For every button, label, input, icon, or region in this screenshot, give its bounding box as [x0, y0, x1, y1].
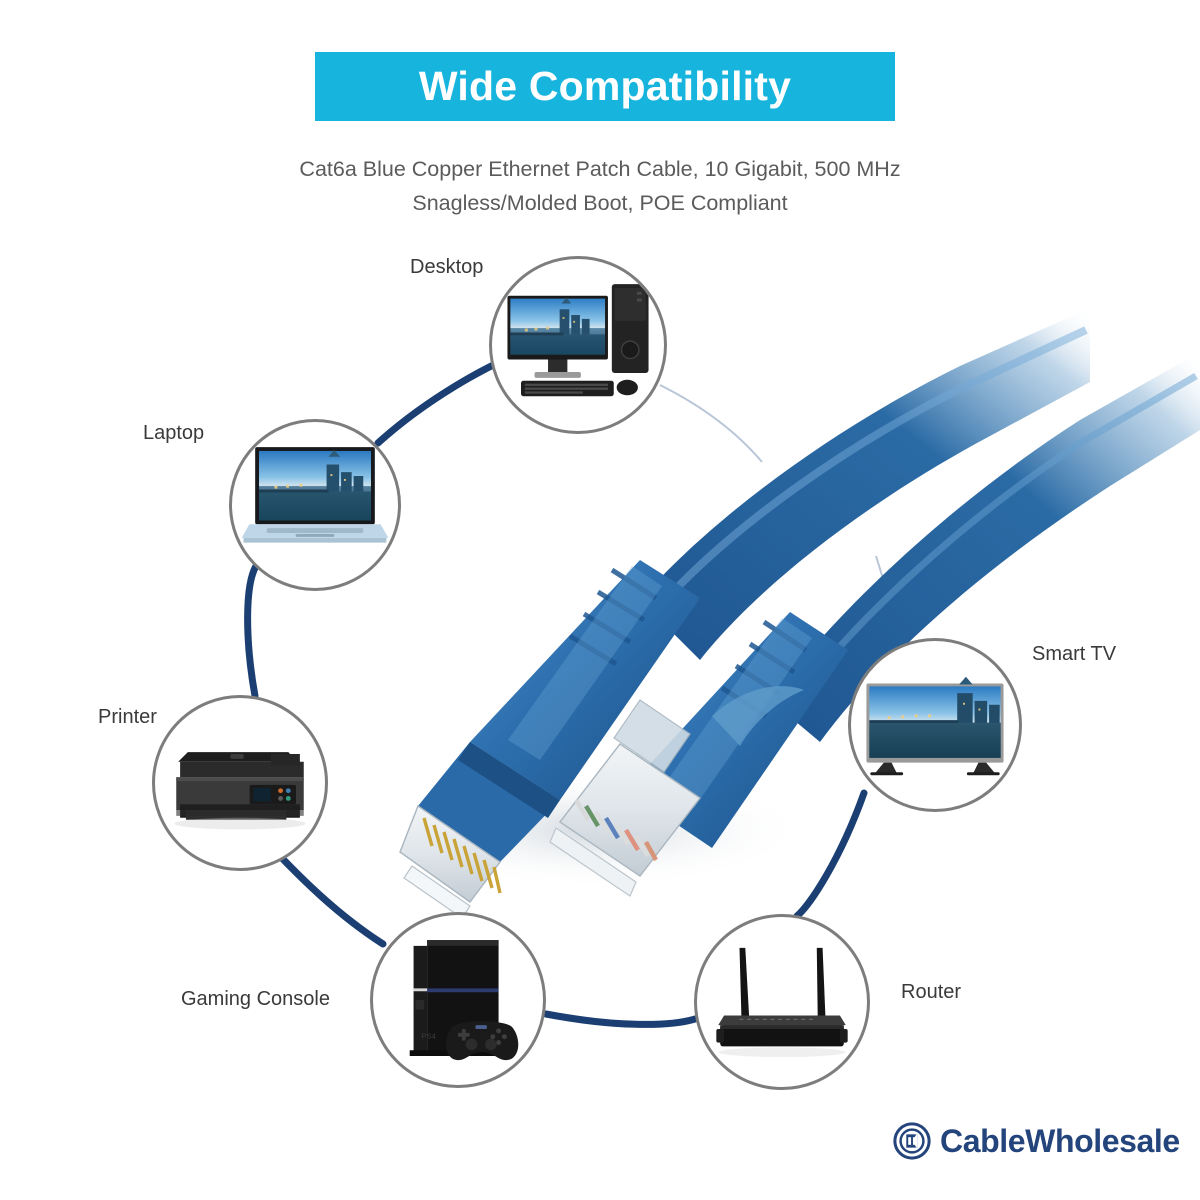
laptop-icon: [232, 422, 398, 588]
node-label-router: Router: [901, 981, 961, 1004]
desktop-computer-icon: [492, 259, 664, 431]
cw-circle-monogram-icon: [893, 1122, 931, 1160]
compatibility-diagram: [0, 0, 1200, 1200]
arc-smarttv-router: [797, 793, 864, 916]
node-label-printer: Printer: [98, 706, 157, 729]
game-console-icon: PS4: [373, 915, 543, 1085]
arc-desktop-cable-gap: [660, 385, 762, 462]
node-router[interactable]: [694, 914, 870, 1090]
brand-logo[interactable]: CableWholesale: [893, 1122, 1180, 1160]
node-desktop[interactable]: [489, 256, 667, 434]
brand-name: CableWholesale: [940, 1125, 1180, 1157]
node-smart-tv[interactable]: [848, 638, 1022, 812]
wifi-router-icon: [697, 917, 867, 1087]
node-label-gaming-console: Gaming Console: [181, 988, 330, 1011]
node-label-desktop: Desktop: [410, 256, 483, 279]
node-label-laptop: Laptop: [143, 422, 204, 445]
television-icon: [851, 641, 1019, 809]
node-laptop[interactable]: [229, 419, 401, 591]
node-label-smart-tv: Smart TV: [1032, 643, 1116, 666]
node-gaming-console[interactable]: PS4: [370, 912, 546, 1088]
product-infographic: Wide Compatibility Cat6a Blue Copper Eth…: [0, 0, 1200, 1200]
arc-router-console: [546, 1014, 695, 1024]
svg-text:PS4: PS4: [421, 1032, 436, 1041]
printer-icon: [155, 698, 325, 868]
node-printer[interactable]: [152, 695, 328, 871]
